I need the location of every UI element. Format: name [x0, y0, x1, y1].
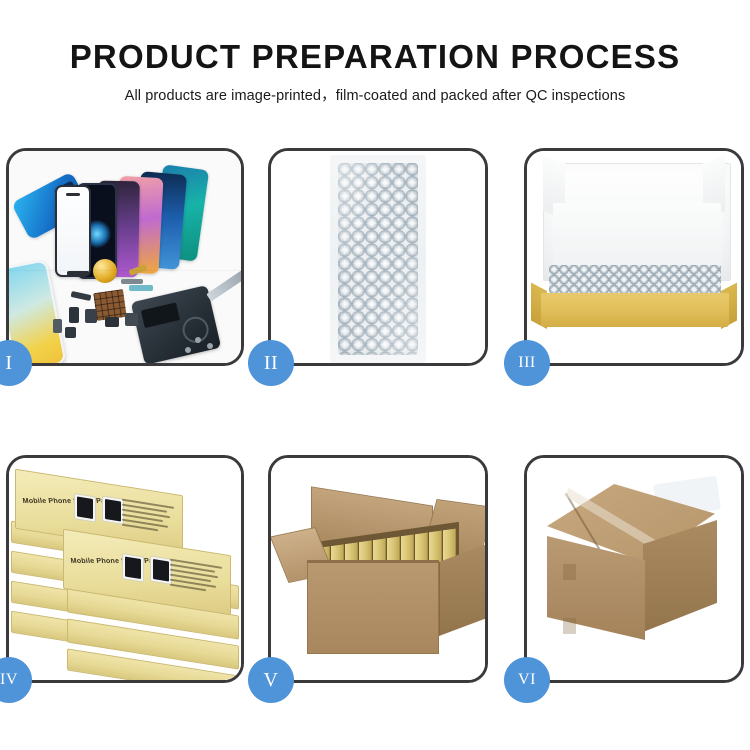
open-carton-scene [271, 458, 485, 680]
speaker-part [85, 309, 97, 323]
camera-module-part [69, 307, 79, 323]
sealed-carton-scene [527, 458, 741, 680]
step-image-1 [9, 151, 241, 363]
flex-cable-part [67, 271, 89, 276]
sim-tray-part [125, 313, 138, 326]
box-spec-text-block [122, 499, 174, 541]
step-badge-5: V [248, 657, 294, 703]
box-product-image [122, 553, 144, 582]
step-panel-2[interactable]: II [268, 148, 488, 366]
step-image-5 [271, 458, 485, 680]
screw-part [195, 337, 201, 343]
stacked-boxes-scene: Mobile Phone Spare Parts Mobile Phone Sp… [9, 458, 241, 680]
screw-part [185, 347, 191, 353]
product-preparation-infographic: PRODUCT PREPARATION PROCESS All products… [0, 0, 750, 750]
tweezers-tool [206, 269, 241, 301]
small-bracket-part [71, 291, 92, 301]
teal-flex-part [129, 285, 153, 291]
step-badge-3: III [504, 340, 550, 386]
step-image-3 [527, 151, 741, 363]
box-spec-text-block [170, 559, 222, 601]
box-product-image [102, 495, 124, 524]
phone-parts-scene [9, 151, 241, 363]
screen-protector-glass [55, 185, 91, 277]
step-panel-6[interactable]: VI [524, 455, 744, 683]
foam-insert [553, 203, 721, 269]
shield-part [65, 327, 76, 338]
steps-grid: I II [0, 0, 750, 750]
step-image-4: Mobile Phone Spare Parts Mobile Phone Sp… [9, 458, 241, 680]
step-panel-3[interactable]: III [524, 148, 744, 366]
gold-coil-part [93, 259, 117, 283]
carton-top-edge [307, 560, 439, 563]
step-panel-1[interactable]: I [6, 148, 244, 366]
box-product-image [74, 493, 96, 522]
carton-tab [563, 564, 576, 580]
box-tray-front [541, 293, 729, 327]
box-product-image [150, 555, 172, 584]
screw-part [207, 343, 213, 349]
step-badge-6: VI [504, 657, 550, 703]
wrap-sheen-highlight [338, 163, 418, 355]
step-image-6 [527, 458, 741, 680]
box-stack: Mobile Phone Spare Parts Mobile Phone Sp… [11, 472, 239, 672]
step-panel-4[interactable]: Mobile Phone Spare Parts Mobile Phone Sp… [6, 455, 244, 683]
step-panel-5[interactable]: V [268, 455, 488, 683]
carton-front-face [307, 562, 439, 654]
step-badge-2: II [248, 340, 294, 386]
vibrator-part [105, 317, 119, 327]
step-image-2 [271, 151, 485, 363]
button-part [53, 319, 62, 333]
bubble-wrap-scene [271, 151, 485, 363]
open-kraft-box-scene [527, 151, 741, 363]
carton-tab [563, 618, 576, 634]
ribbon-cable-part [121, 279, 143, 284]
